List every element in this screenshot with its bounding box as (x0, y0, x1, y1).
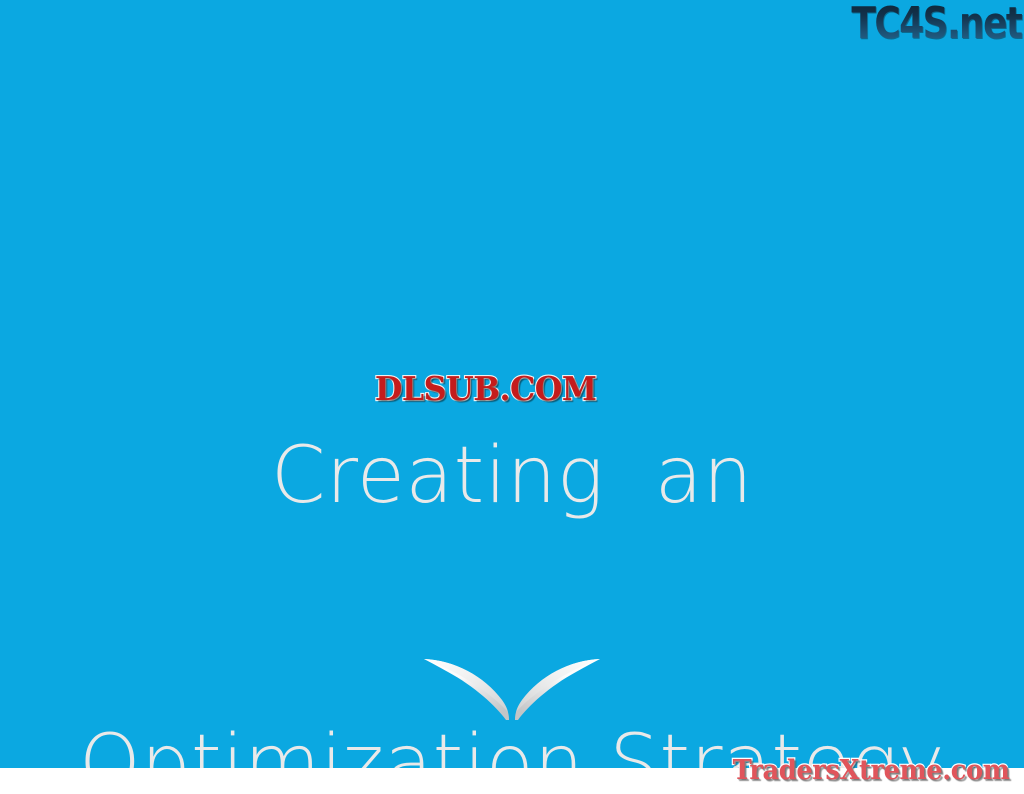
slide-title-line-1: Creating an (0, 428, 1024, 524)
slide-root: Creating an Optimization Strategy (0, 0, 1024, 794)
watermark-dlsub: DLSUB.COM (372, 368, 599, 410)
wings-logo (412, 650, 612, 730)
watermark-tradersxtreme: TradersXtreme.com (733, 754, 1010, 788)
wings-logo-left (424, 659, 509, 720)
wings-logo-icon (412, 650, 612, 730)
wings-logo-right (515, 659, 600, 720)
slide-canvas: Creating an Optimization Strategy (0, 0, 1024, 768)
watermark-tc4s: TC4S.net (852, 0, 1022, 50)
